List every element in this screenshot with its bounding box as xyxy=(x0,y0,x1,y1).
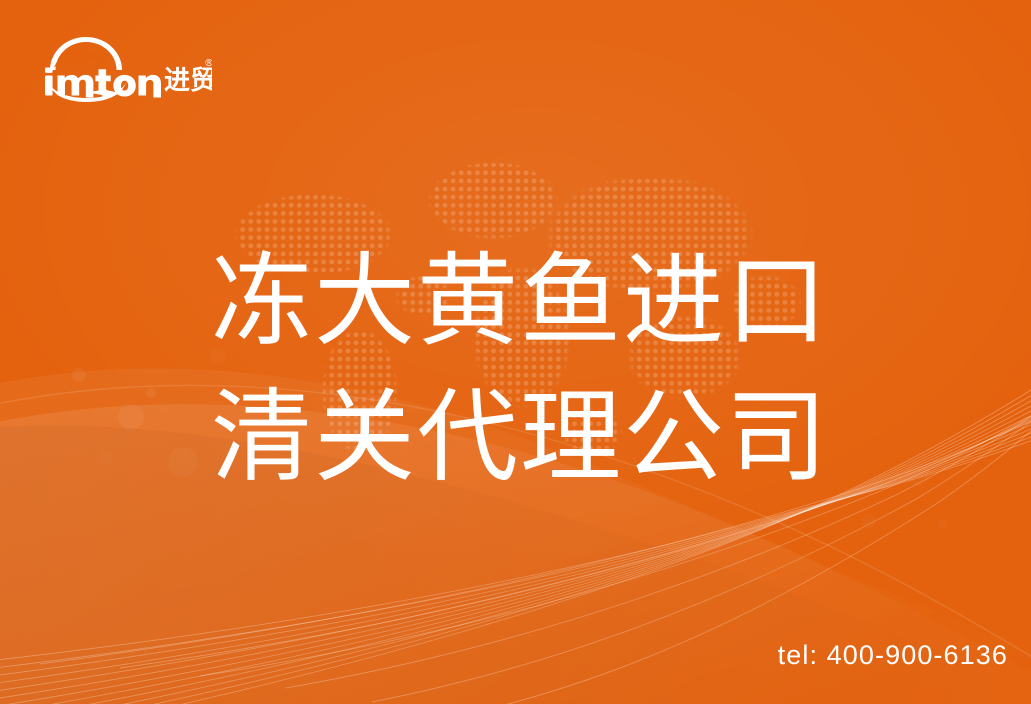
globe-arc-icon xyxy=(50,37,122,70)
promo-banner: 进贸通 ® 冻大黄鱼进口 清关代理公司 tel: 400-900-6136 xyxy=(0,0,1031,704)
imton-logo[interactable]: 进贸通 ® xyxy=(36,26,212,102)
logo-chinese-name: 进贸通 xyxy=(164,66,212,96)
contact-phone[interactable]: tel: 400-900-6136 xyxy=(778,640,1008,671)
headline-line-1: 冻大黄鱼进口 xyxy=(211,233,851,369)
registered-trademark-symbol: ® xyxy=(204,58,212,69)
page-title: 冻大黄鱼进口 清关代理公司 xyxy=(211,233,851,505)
headline-line-2: 清关代理公司 xyxy=(211,369,851,505)
